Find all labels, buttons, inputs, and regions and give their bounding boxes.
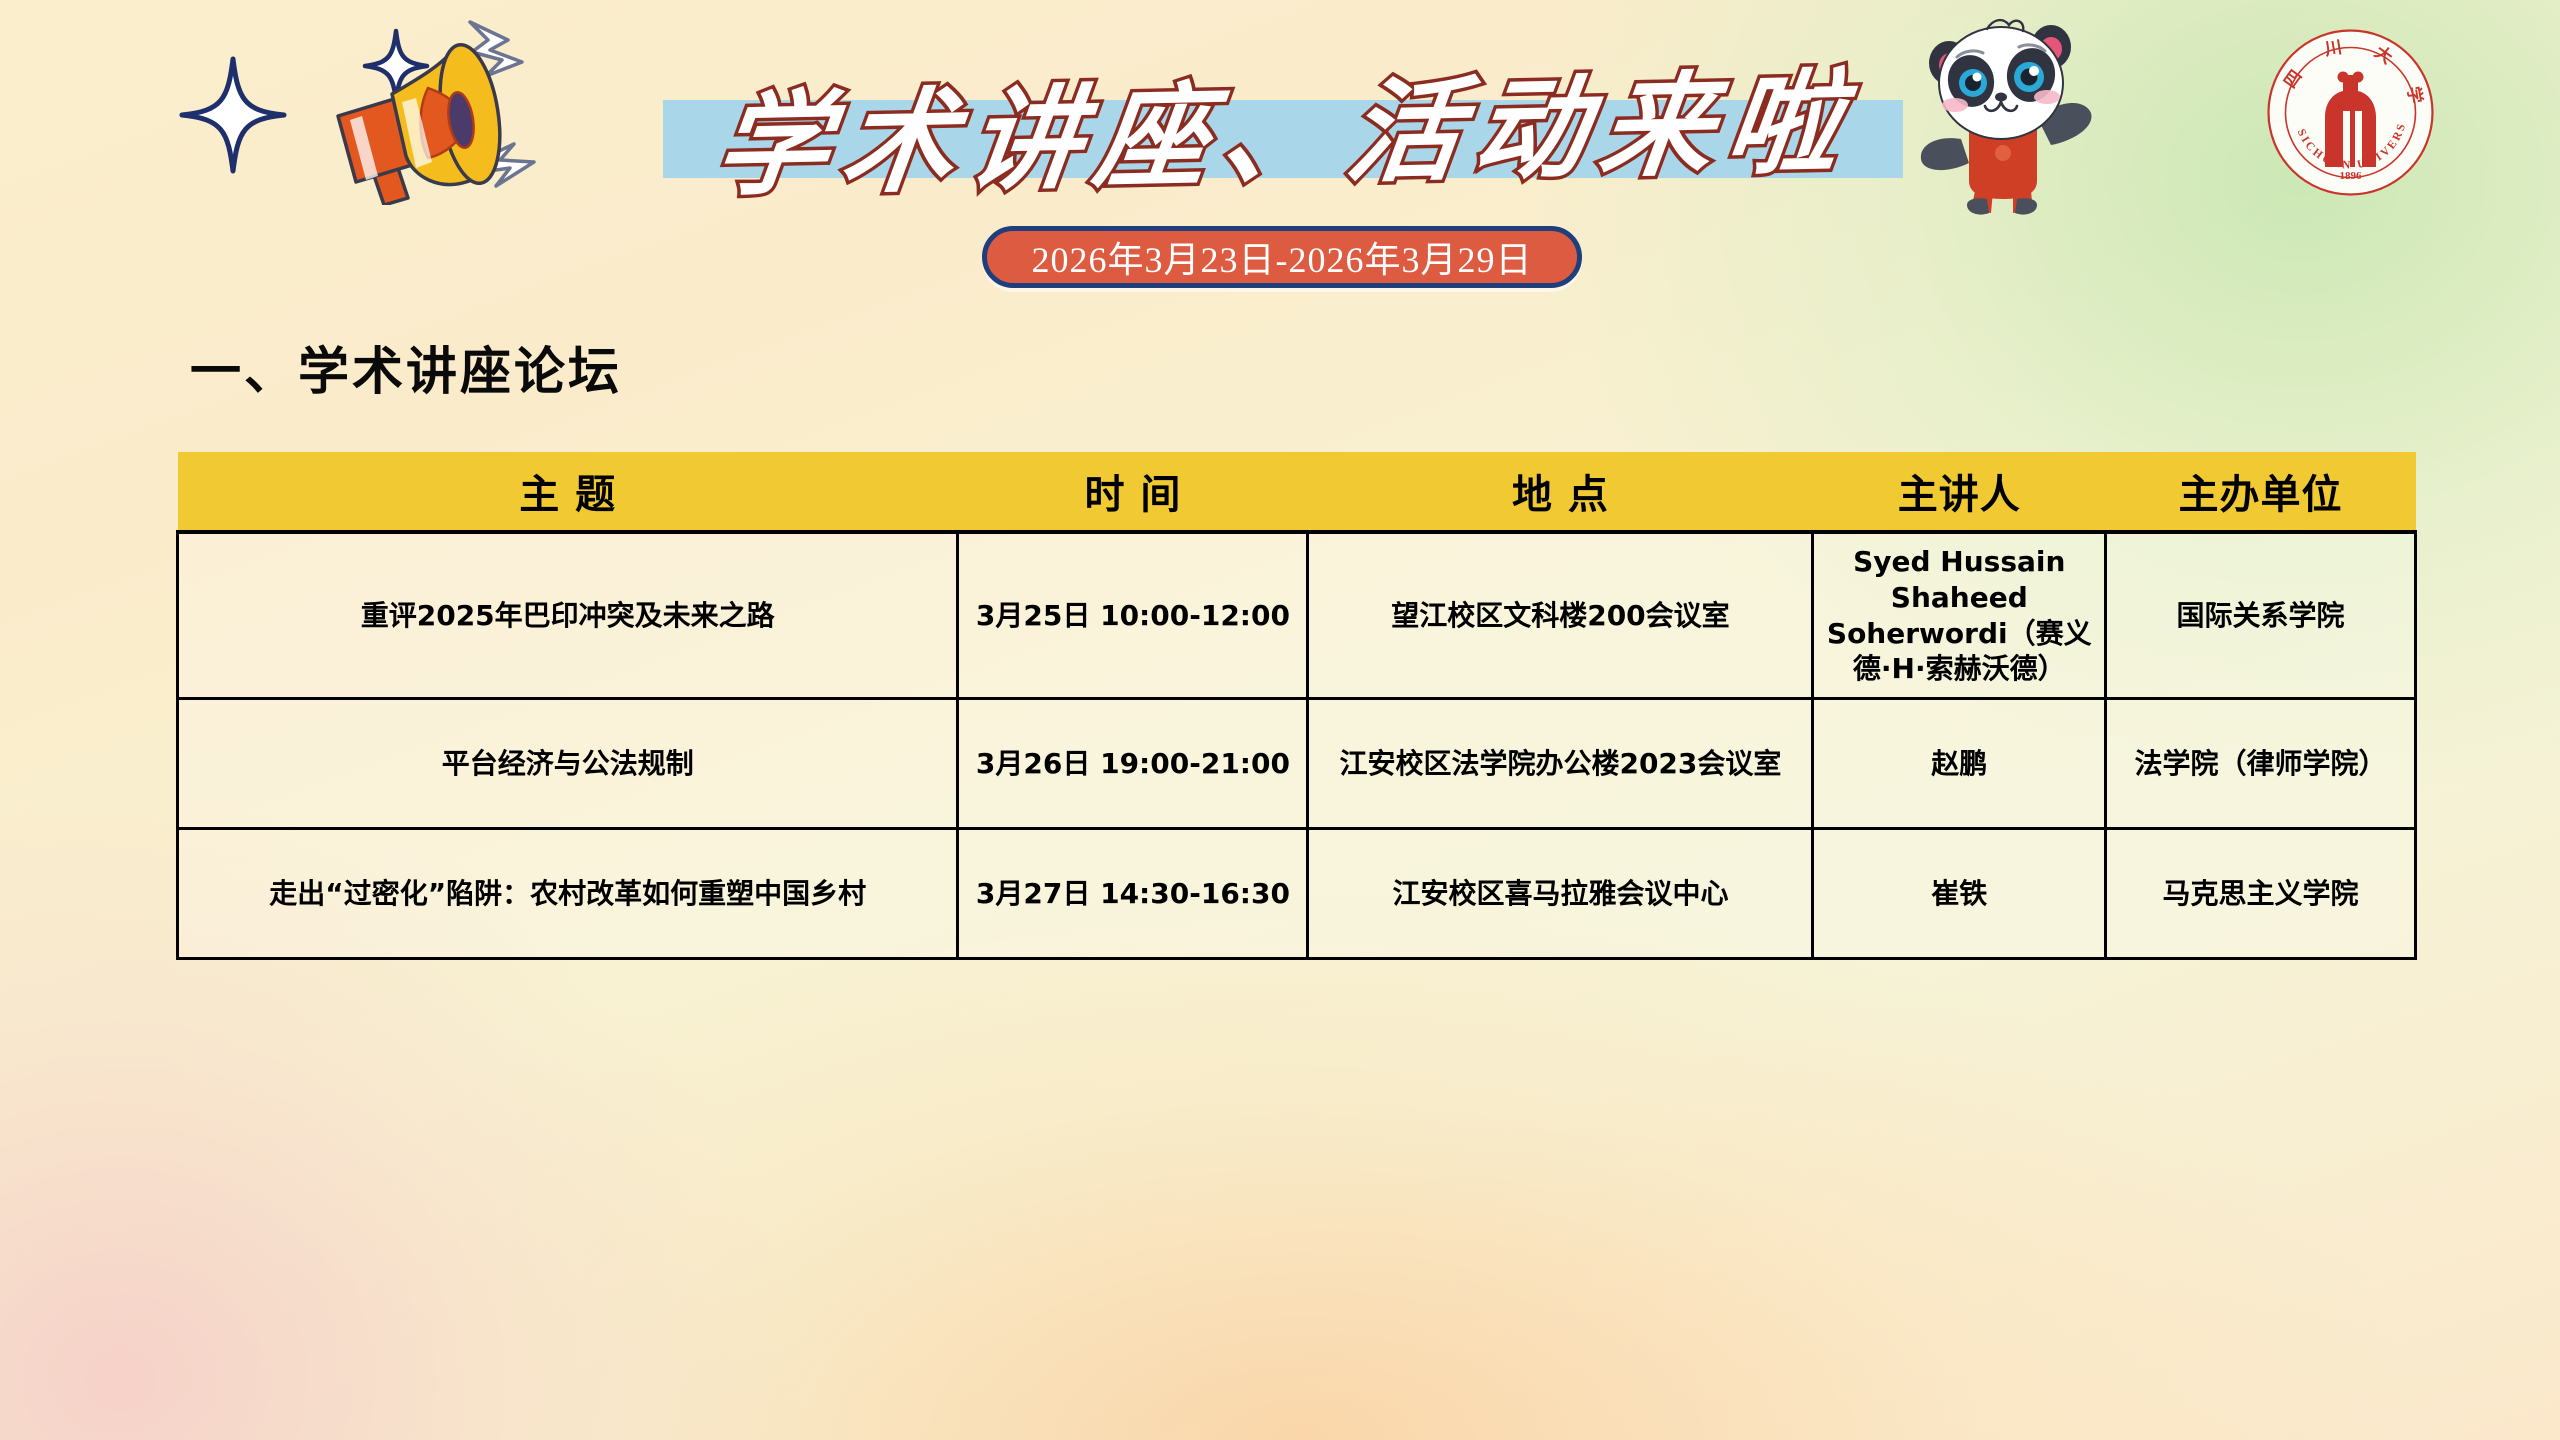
cell-speaker: 赵鹏 (1813, 699, 2106, 829)
cell-topic: 平台经济与公法规制 (178, 699, 958, 829)
page-title: 学术讲座、活动来啦 (651, 57, 1920, 213)
header-title-area: 学术讲座、活动来啦 (0, 40, 2560, 200)
table-row: 走出“过密化”陷阱：农村改革如何重塑中国乡村 3月27日 14:30-16:30… (178, 829, 2416, 959)
cell-topic: 走出“过密化”陷阱：农村改革如何重塑中国乡村 (178, 829, 958, 959)
column-header-org: 主办单位 (2106, 452, 2416, 532)
schedule-table: 主 题 时 间 地 点 主讲人 主办单位 重评2025年巴印冲突及未来之路 3月… (176, 452, 2417, 960)
table-header: 主 题 时 间 地 点 主讲人 主办单位 (178, 452, 2416, 532)
column-header-topic: 主 题 (178, 452, 958, 532)
cell-speaker: Syed Hussain Shaheed Soherwordi（赛义德·H·索赫… (1813, 532, 2106, 699)
cell-topic: 重评2025年巴印冲突及未来之路 (178, 532, 958, 699)
cell-speaker: 崔铁 (1813, 829, 2106, 959)
section-heading: 一、学术讲座论坛 (190, 330, 622, 404)
cell-org: 马克思主义学院 (2106, 829, 2416, 959)
table-body: 重评2025年巴印冲突及未来之路 3月25日 10:00-12:00 望江校区文… (178, 532, 2416, 959)
table-row: 平台经济与公法规制 3月26日 19:00-21:00 江安校区法学院办公楼20… (178, 699, 2416, 829)
cell-place: 望江校区文科楼200会议室 (1308, 532, 1813, 699)
cell-time: 3月27日 14:30-16:30 (958, 829, 1308, 959)
cell-time: 3月25日 10:00-12:00 (958, 532, 1308, 699)
cell-time: 3月26日 19:00-21:00 (958, 699, 1308, 829)
date-range-badge: 2026年3月23日-2026年3月29日 (982, 226, 1582, 288)
table-header-row: 主 题 时 间 地 点 主讲人 主办单位 (178, 452, 2416, 532)
cell-place: 江安校区喜马拉雅会议中心 (1308, 829, 1813, 959)
cell-place: 江安校区法学院办公楼2023会议室 (1308, 699, 1813, 829)
column-header-speaker: 主讲人 (1813, 452, 2106, 532)
column-header-place: 地 点 (1308, 452, 1813, 532)
column-header-time: 时 间 (958, 452, 1308, 532)
cell-org: 法学院（律师学院） (2106, 699, 2416, 829)
schedule-table-container: 主 题 时 间 地 点 主讲人 主办单位 重评2025年巴印冲突及未来之路 3月… (176, 452, 2417, 960)
cell-org: 国际关系学院 (2106, 532, 2416, 699)
table-row: 重评2025年巴印冲突及未来之路 3月25日 10:00-12:00 望江校区文… (178, 532, 2416, 699)
